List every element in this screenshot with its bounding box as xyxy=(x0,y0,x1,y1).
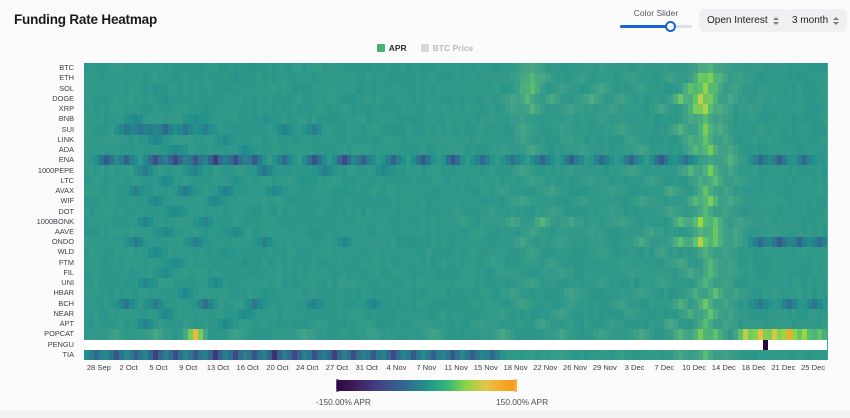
x-axis-label: 14 Dec xyxy=(712,363,736,372)
y-axis-label: UNI xyxy=(0,279,78,286)
x-axis-label: 27 Oct xyxy=(326,363,348,372)
heatmap-cell xyxy=(822,350,827,360)
heatmap-row[interactable] xyxy=(84,299,828,309)
heatmap-cell xyxy=(822,319,827,329)
y-axis-labels: BTCETHSOLDOGEXRPBNBSUILINKADAENA1000PEPE… xyxy=(0,63,78,361)
x-axis-label: 24 Oct xyxy=(296,363,318,372)
heatmap-cell xyxy=(822,63,827,73)
x-axis-label: 22 Nov xyxy=(533,363,557,372)
y-axis-label: NEAR xyxy=(0,310,78,317)
heatmap-cell xyxy=(822,124,827,134)
heatmap-row[interactable] xyxy=(84,145,828,155)
heatmap-cell xyxy=(822,186,827,196)
x-axis-label: 7 Nov xyxy=(416,363,436,372)
color-slider-label: Color Slider xyxy=(620,8,692,18)
y-axis-label: WIF xyxy=(0,197,78,204)
heatmap-row[interactable] xyxy=(84,288,828,298)
heatmap-row[interactable] xyxy=(84,340,828,350)
x-axis-label: 3 Dec xyxy=(625,363,645,372)
heatmap-row[interactable] xyxy=(84,176,828,186)
heatmap-row[interactable] xyxy=(84,227,828,237)
y-axis-label: LINK xyxy=(0,136,78,143)
heatmap-cell xyxy=(822,114,827,124)
timeframe-dropdown-value: 3 month xyxy=(792,15,828,26)
x-axis-label: 20 Oct xyxy=(266,363,288,372)
y-axis-label: XRP xyxy=(0,105,78,112)
timeframe-dropdown[interactable]: 3 month xyxy=(784,9,847,32)
heatmap-row[interactable] xyxy=(84,155,828,165)
x-axis-label: 15 Nov xyxy=(474,363,498,372)
heatmap-row[interactable] xyxy=(84,258,828,268)
heatmap-row[interactable] xyxy=(84,319,828,329)
heatmap-cell xyxy=(822,196,827,206)
heatmap-cell xyxy=(822,340,827,350)
series-legend: APRBTC Price xyxy=(0,41,850,55)
x-axis-label: 18 Dec xyxy=(742,363,766,372)
y-axis-label: AVAX xyxy=(0,187,78,194)
heatmap-cell xyxy=(822,299,827,309)
y-axis-label: DOT xyxy=(0,208,78,215)
heatmap-row[interactable] xyxy=(84,278,828,288)
x-axis-label: 18 Nov xyxy=(503,363,527,372)
y-axis-label: PENGU xyxy=(0,341,78,348)
x-axis-label: 28 Sep xyxy=(87,363,111,372)
y-axis-label: SOL xyxy=(0,85,78,92)
y-axis-label: LTC xyxy=(0,177,78,184)
heatmap-row[interactable] xyxy=(84,237,828,247)
x-axis-label: 25 Dec xyxy=(801,363,825,372)
heatmap-cell xyxy=(822,206,827,216)
y-axis-label: FIL xyxy=(0,269,78,276)
heatmap-cell xyxy=(822,329,827,339)
x-axis-label: 5 Oct xyxy=(149,363,167,372)
heatmap-cell xyxy=(822,247,827,257)
heatmap-cell xyxy=(822,288,827,298)
color-slider-thumb[interactable] xyxy=(665,21,676,32)
series-swatch-icon xyxy=(377,44,385,52)
y-axis-label: WLD xyxy=(0,248,78,255)
x-axis-label: 4 Nov xyxy=(387,363,407,372)
heatmap-row[interactable] xyxy=(84,186,828,196)
funding-rate-heatmap-page: Funding Rate Heatmap Color Slider Open I… xyxy=(0,0,850,418)
heatmap-cell xyxy=(822,165,827,175)
y-axis-label: ETH xyxy=(0,74,78,81)
x-axis-label: 7 Dec xyxy=(654,363,674,372)
heatmap-cell xyxy=(822,227,827,237)
heatmap-cell xyxy=(822,176,827,186)
y-axis-label: BNB xyxy=(0,115,78,122)
color-slider-fill xyxy=(620,25,670,28)
heatmap-cell xyxy=(822,278,827,288)
bottom-strip xyxy=(0,410,850,418)
heatmap-row[interactable] xyxy=(84,165,828,175)
heatmap-cell xyxy=(822,217,827,227)
heatmap-cell xyxy=(822,237,827,247)
x-axis-label: 16 Oct xyxy=(236,363,258,372)
color-slider[interactable]: Color Slider xyxy=(620,8,692,34)
y-axis-label: FTM xyxy=(0,259,78,266)
y-axis-label: AAVE xyxy=(0,228,78,235)
color-scale-bar xyxy=(337,380,515,391)
heatmap-plot[interactable]: coinglass xyxy=(84,63,828,360)
heatmap-row[interactable] xyxy=(84,268,828,278)
heatmap-cell xyxy=(822,145,827,155)
series-label: APR xyxy=(389,43,407,53)
heatmap-row[interactable] xyxy=(84,114,828,124)
page-header: Funding Rate Heatmap Color Slider Open I… xyxy=(0,0,850,40)
heatmap-row[interactable] xyxy=(84,104,828,114)
y-axis-label: DOGE xyxy=(0,95,78,102)
y-axis-label: TIA xyxy=(0,351,78,358)
heatmap-row[interactable] xyxy=(84,217,828,227)
y-axis-label: BTC xyxy=(0,64,78,71)
x-axis-label: 10 Dec xyxy=(682,363,706,372)
heatmap-cell xyxy=(822,258,827,268)
y-axis-label: POPCAT xyxy=(0,330,78,337)
heatmap-chart: BTCETHSOLDOGEXRPBNBSUILINKADAENA1000PEPE… xyxy=(0,56,850,376)
heatmap-cell xyxy=(822,268,827,278)
series-toggle-apr[interactable]: APR xyxy=(377,43,407,53)
heatmap-row[interactable] xyxy=(84,206,828,216)
y-axis-label: HBAR xyxy=(0,289,78,296)
heatmap-row[interactable] xyxy=(84,350,828,360)
heatmap-cell xyxy=(822,135,827,145)
color-scale-max-label: 150.00% APR xyxy=(496,397,548,407)
y-axis-label: BCH xyxy=(0,300,78,307)
y-axis-label: ONDO xyxy=(0,238,78,245)
color-scale-min-label: -150.00% APR xyxy=(316,397,371,407)
x-axis-label: 26 Nov xyxy=(563,363,587,372)
x-axis-label: 2 Oct xyxy=(120,363,138,372)
y-axis-label: ENA xyxy=(0,156,78,163)
color-scale-cap-right xyxy=(514,379,517,392)
y-axis-label: SUI xyxy=(0,126,78,133)
x-axis-label: 9 Oct xyxy=(179,363,197,372)
heatmap-row[interactable] xyxy=(84,247,828,257)
series-label: BTC Price xyxy=(433,43,474,53)
y-axis-label: 1000BONK xyxy=(0,218,78,225)
page-title: Funding Rate Heatmap xyxy=(14,12,157,27)
chevron-updown-icon xyxy=(773,17,779,25)
chevron-updown-icon xyxy=(833,17,839,25)
heatmap-cell xyxy=(822,94,827,104)
x-axis-label: 31 Oct xyxy=(356,363,378,372)
heatmap-row[interactable] xyxy=(84,329,828,339)
heatmap-cell xyxy=(822,155,827,165)
y-axis-label: APT xyxy=(0,320,78,327)
x-axis-labels: 28 Sep2 Oct5 Oct9 Oct13 Oct16 Oct20 Oct2… xyxy=(84,363,828,377)
y-axis-label: ADA xyxy=(0,146,78,153)
open-interest-dropdown[interactable]: Open Interest xyxy=(699,9,787,32)
heatmap-row[interactable] xyxy=(84,196,828,206)
heatmap-row[interactable] xyxy=(84,135,828,145)
heatmap-row[interactable] xyxy=(84,94,828,104)
y-axis-label: 1000PEPE xyxy=(0,167,78,174)
open-interest-dropdown-value: Open Interest xyxy=(707,15,768,26)
heatmap-row[interactable] xyxy=(84,124,828,134)
heatmap-cell xyxy=(822,73,827,83)
heatmap-row[interactable] xyxy=(84,63,828,73)
series-swatch-icon xyxy=(421,44,429,52)
x-axis-label: 13 Oct xyxy=(207,363,229,372)
x-axis-label: 29 Nov xyxy=(593,363,617,372)
heatmap-cell xyxy=(822,83,827,93)
series-toggle-btc-price[interactable]: BTC Price xyxy=(421,43,474,53)
heatmap-row[interactable] xyxy=(84,83,828,93)
x-axis-label: 11 Nov xyxy=(444,363,468,372)
heatmap-cell xyxy=(822,309,827,319)
x-axis-label: 21 Dec xyxy=(771,363,795,372)
heatmap-cell xyxy=(822,104,827,114)
heatmap-row[interactable] xyxy=(84,309,828,319)
heatmap-row[interactable] xyxy=(84,73,828,83)
